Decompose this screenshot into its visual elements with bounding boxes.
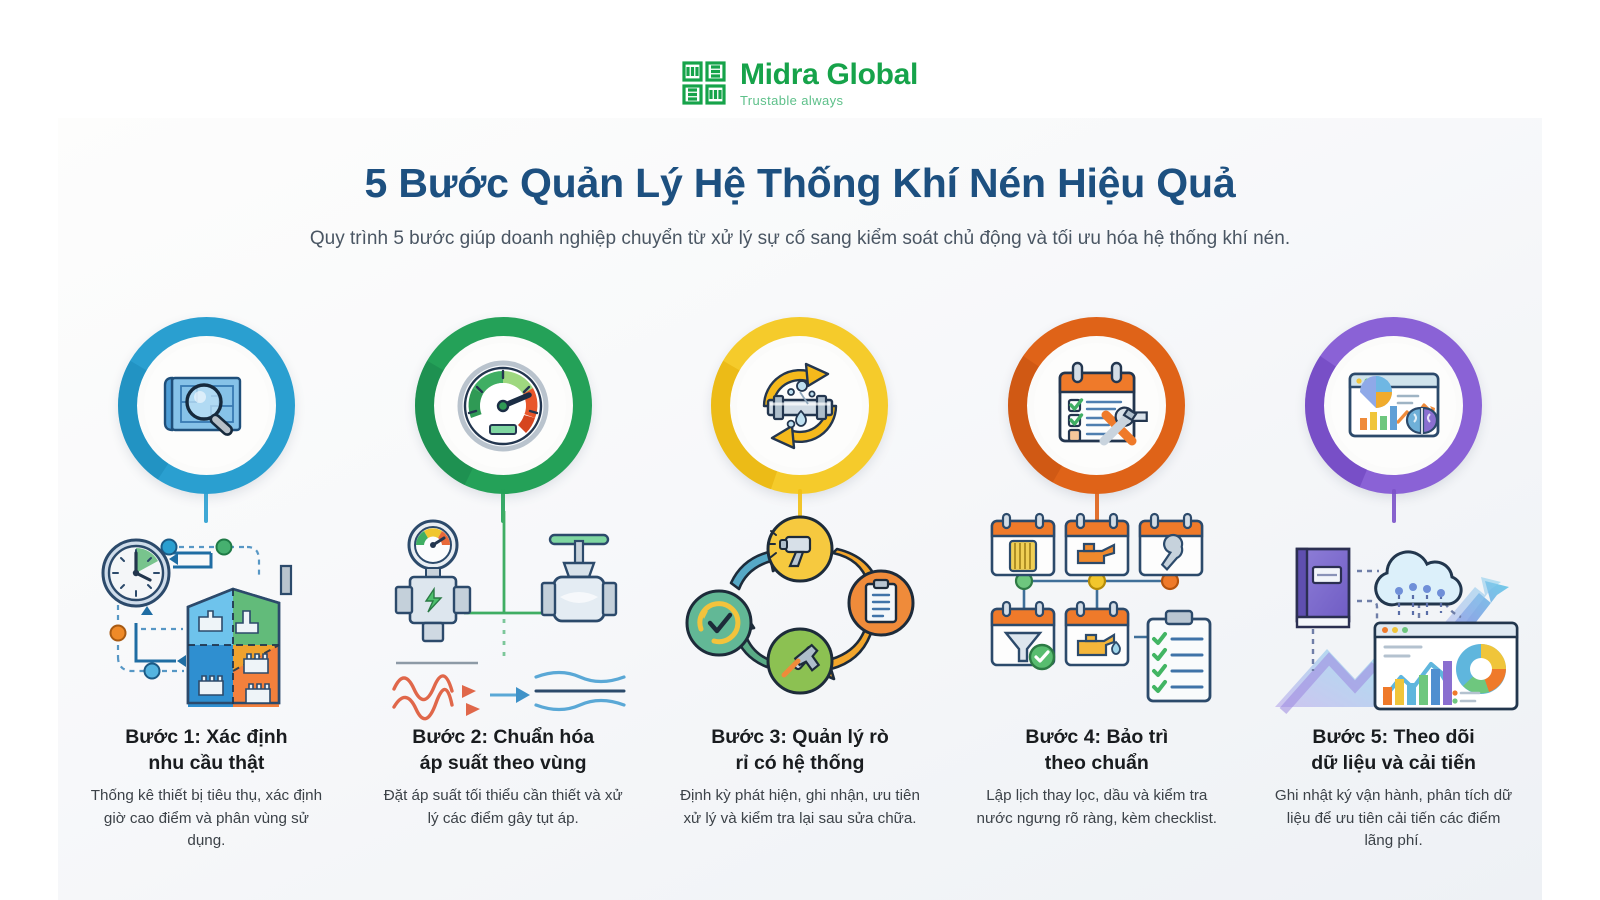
page-title: 5 Bước Quản Lý Hệ Thống Khí Nén Hiệu Quả bbox=[58, 160, 1542, 207]
step-desc-1: Thống kê thiết bị tiêu thụ, xác định giờ… bbox=[84, 785, 329, 851]
maintenance-schedule-checklist-illustration bbox=[972, 511, 1222, 711]
brand-name: Midra Global bbox=[740, 60, 918, 90]
infographic-canvas: Midra Global Trustable always 5 Bước Quả… bbox=[0, 0, 1600, 900]
step-title-3: Bước 3: Quản lý rò rỉ có hệ thống bbox=[677, 725, 922, 776]
step-caption-5: Bước 5: Theo dõi dữ liệu và cải tiến Ghi… bbox=[1271, 725, 1516, 852]
step-column-4: Bước 4: Bảo trì theo chuẩn Lập lịch thay… bbox=[948, 318, 1245, 878]
step-badge-4[interactable] bbox=[1009, 318, 1184, 493]
step-column-5: Bước 5: Theo dõi dữ liệu và cải tiến Ghi… bbox=[1245, 318, 1542, 878]
step-badge-5[interactable] bbox=[1306, 318, 1481, 493]
steps-row: Bước 1: Xác định nhu cầu thật Thống kê t… bbox=[58, 318, 1542, 878]
step-desc-3: Định kỳ phát hiện, ghi nhận, ưu tiên xử … bbox=[677, 785, 922, 829]
step-desc-4: Lập lịch thay lọc, dầu và kiểm tra nước … bbox=[974, 785, 1219, 829]
step-title-1: Bước 1: Xác định nhu cầu thật bbox=[84, 725, 329, 776]
step-desc-2: Đặt áp suất tối thiểu cần thiết và xử lý… bbox=[381, 785, 626, 829]
brand-logo: Midra Global Trustable always bbox=[0, 50, 1600, 116]
step-column-3: Bước 3: Quản lý rò rỉ có hệ thống Định k… bbox=[652, 318, 949, 878]
step-caption-2: Bước 2: Chuẩn hóa áp suất theo vùng Đặt … bbox=[381, 725, 626, 830]
logbook-cloud-growth-dashboard-illustration bbox=[1269, 511, 1519, 711]
step-caption-3: Bước 3: Quản lý rò rỉ có hệ thống Định k… bbox=[677, 725, 922, 830]
step-title-5: Bước 5: Theo dõi dữ liệu và cải tiến bbox=[1271, 725, 1516, 776]
step-badge-3[interactable] bbox=[712, 318, 887, 493]
regulator-valve-flow-illustration bbox=[378, 511, 628, 711]
step-caption-1: Bước 1: Xác định nhu cầu thật Thống kê t… bbox=[84, 725, 329, 852]
leak-detect-log-fix-verify-cycle-illustration bbox=[675, 511, 925, 711]
step-column-2: Bước 2: Chuẩn hóa áp suất theo vùng Đặt … bbox=[355, 318, 652, 878]
step-title-2: Bước 2: Chuẩn hóa áp suất theo vùng bbox=[381, 725, 626, 776]
step-desc-5: Ghi nhật ký vận hành, phân tích dữ liệu … bbox=[1271, 785, 1516, 851]
page-subtitle: Quy trình 5 bước giúp doanh nghiệp chuyể… bbox=[58, 228, 1542, 250]
step-badge-2[interactable] bbox=[416, 318, 591, 493]
step-title-4: Bước 4: Bảo trì theo chuẩn bbox=[974, 725, 1219, 776]
midra-grid-logo-icon bbox=[682, 61, 726, 105]
step-column-1: Bước 1: Xác định nhu cầu thật Thống kê t… bbox=[58, 318, 355, 878]
step-caption-4: Bước 4: Bảo trì theo chuẩn Lập lịch thay… bbox=[974, 725, 1219, 830]
clock-factory-zones-illustration bbox=[81, 511, 331, 711]
step-badge-1[interactable] bbox=[119, 318, 294, 493]
brand-tagline: Trustable always bbox=[740, 94, 843, 107]
